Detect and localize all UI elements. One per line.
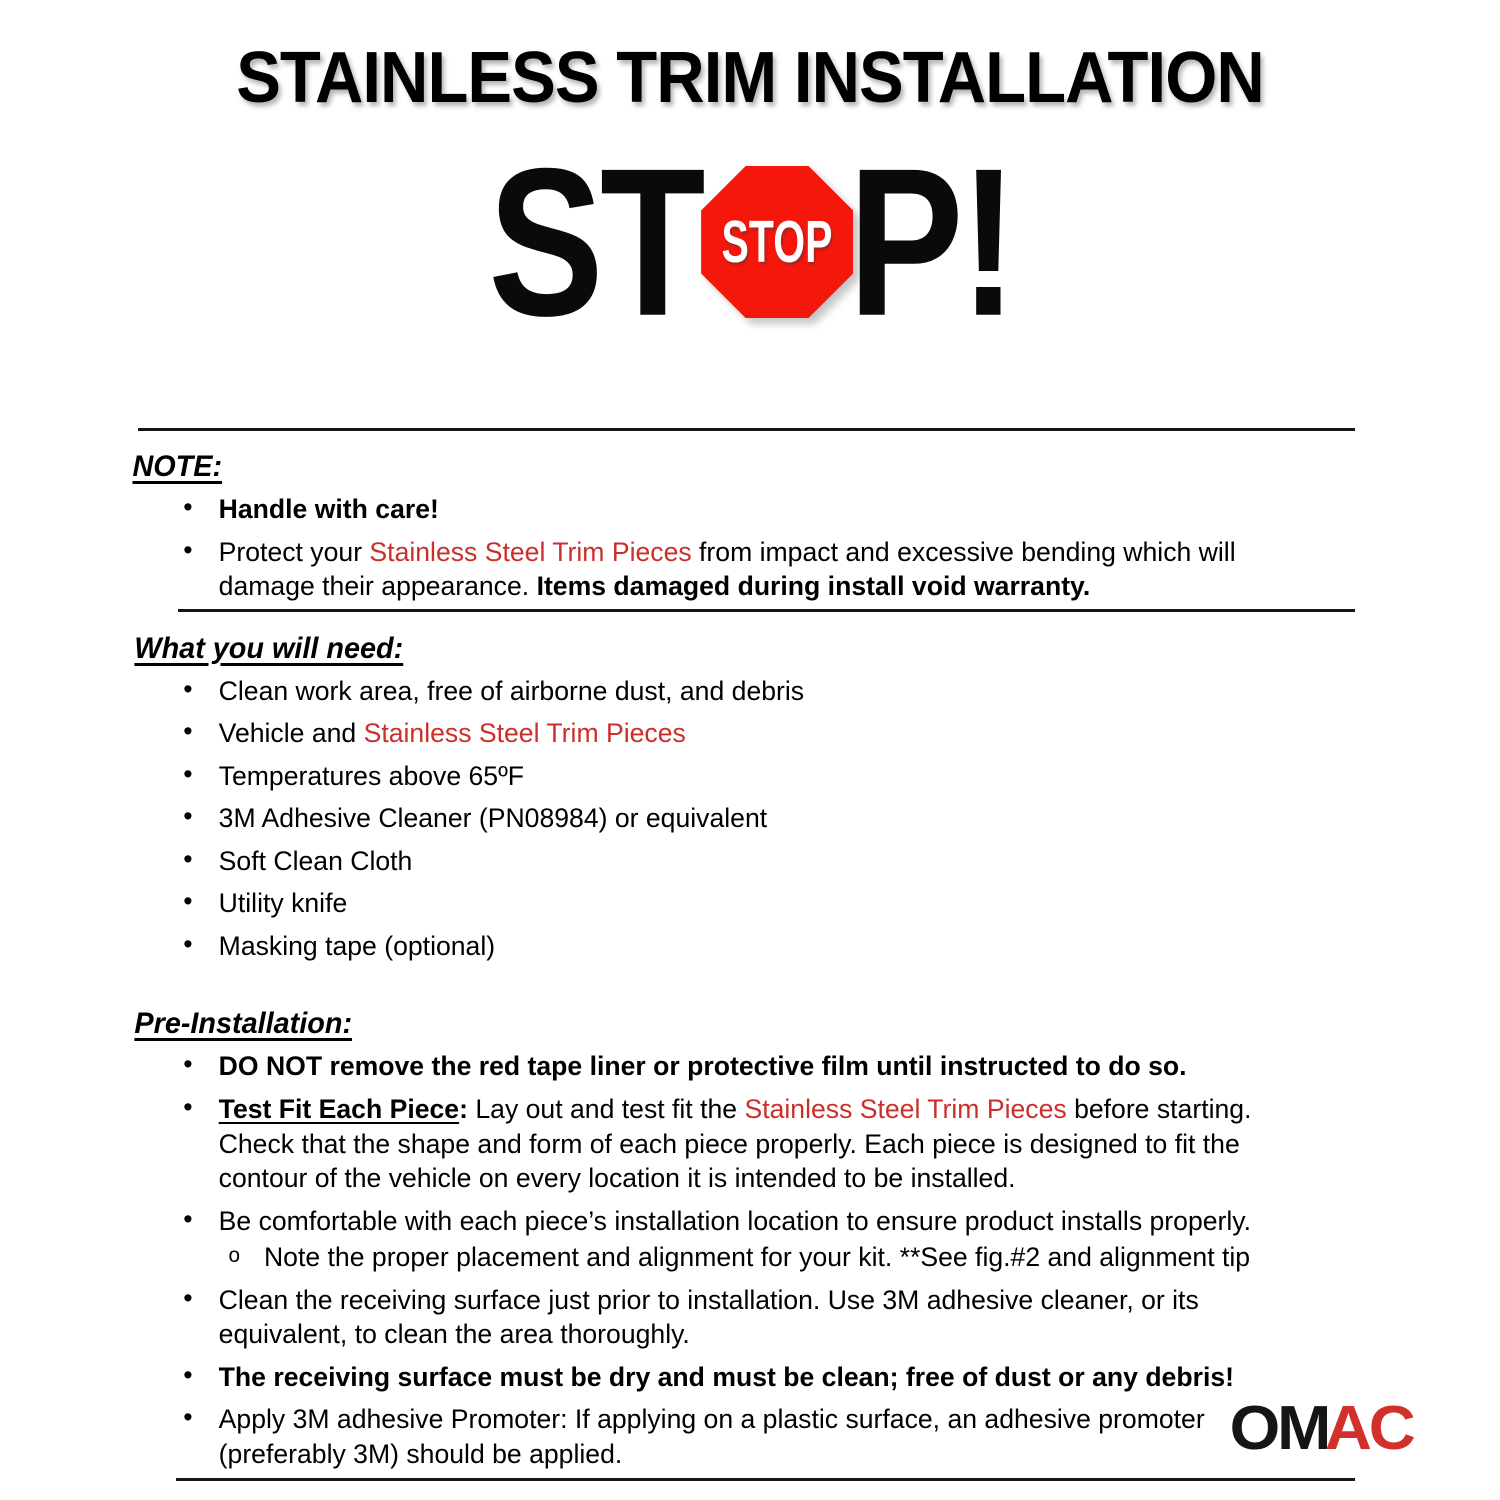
omac-logo-red: AC: [1325, 1398, 1413, 1460]
body-text: Apply 3M adhesive Promoter: If applying …: [219, 1404, 1205, 1469]
list-item: Clean work area, free of airborne dust, …: [0, 674, 1478, 709]
omac-logo-dark: OM: [1230, 1398, 1329, 1460]
stop-sign-icon: STOP: [701, 166, 853, 318]
body-text: Be comfortable with each piece’s install…: [219, 1206, 1251, 1236]
list-item: Handle with care!: [0, 492, 1478, 527]
list-item: DO NOT remove the red tape liner or prot…: [0, 1049, 1478, 1084]
list-item: Protect your Stainless Steel Trim Pieces…: [0, 535, 1478, 604]
section-heading-pre-installation: Pre-Installation:: [0, 963, 1440, 1041]
list-item: Temperatures above 65ºF: [0, 759, 1478, 794]
needs-list: Clean work area, free of airborne dust, …: [0, 674, 1500, 964]
omac-logo: OMAC: [1232, 1398, 1410, 1460]
body-text: Clean work area, free of airborne dust, …: [219, 676, 804, 706]
list-item: The receiving surface must be dry and mu…: [0, 1360, 1478, 1395]
emphasis-text: DO NOT remove the red tape liner or prot…: [219, 1051, 1187, 1081]
body-text: Soft Clean Cloth: [219, 846, 413, 876]
stop-sign-label: STOP: [715, 152, 840, 331]
list-item: Be comfortable with each piece’s install…: [0, 1204, 1478, 1239]
body-text: 3M Adhesive Cleaner (PN08984) or equival…: [219, 803, 767, 833]
highlight-text: Stainless Steel Trim Pieces: [744, 1094, 1066, 1124]
list-item: 3M Adhesive Cleaner (PN08984) or equival…: [0, 801, 1478, 836]
divider-top: [138, 428, 1355, 431]
emphasis-text: The receiving surface must be dry and mu…: [219, 1362, 1234, 1392]
body-text: Clean the receiving surface just prior t…: [219, 1285, 1199, 1350]
emphasis-text: Handle with care!: [219, 494, 439, 524]
stop-warning-graphic: ST STOP P!: [0, 142, 1500, 342]
list-item: Soft Clean Cloth: [0, 844, 1478, 879]
highlight-text: Stainless Steel Trim Pieces: [364, 718, 686, 748]
list-item-sub: Note the proper placement and alignment …: [0, 1240, 1478, 1275]
section-heading-note: NOTE:: [0, 440, 1440, 484]
stop-letters-left: ST: [488, 156, 702, 329]
body-text: Lay out and test fit the: [475, 1094, 744, 1124]
term-label: Test Fit Each Piece: [219, 1094, 459, 1124]
body-text: Note the proper placement and alignment …: [264, 1242, 1250, 1272]
body-text: Vehicle and: [219, 718, 364, 748]
body-text: Protect your: [219, 537, 370, 567]
divider-bottom: [176, 1478, 1355, 1481]
note-list: Handle with care!Protect your Stainless …: [0, 492, 1500, 604]
list-item: Utility knife: [0, 886, 1478, 921]
body-text: Temperatures above 65ºF: [219, 761, 524, 791]
list-item: Clean the receiving surface just prior t…: [0, 1283, 1478, 1352]
stop-letters-right: P!: [848, 156, 1014, 329]
emphasis-text: :: [459, 1094, 475, 1124]
page-title: STAINLESS TRIM INSTALLATION: [53, 0, 1448, 114]
section-heading-needs: What you will need:: [0, 604, 1440, 666]
list-item: Vehicle and Stainless Steel Trim Pieces: [0, 716, 1478, 751]
body-text: Masking tape (optional): [219, 931, 495, 961]
list-item: Masking tape (optional): [0, 929, 1478, 964]
body-text: Utility knife: [219, 888, 348, 918]
emphasis-text: Items damaged during install void warran…: [537, 571, 1091, 601]
highlight-text: Stainless Steel Trim Pieces: [369, 537, 691, 567]
document-body: NOTE: Handle with care!Protect your Stai…: [0, 440, 1500, 1471]
list-item: Test Fit Each Piece: Lay out and test fi…: [0, 1092, 1478, 1196]
